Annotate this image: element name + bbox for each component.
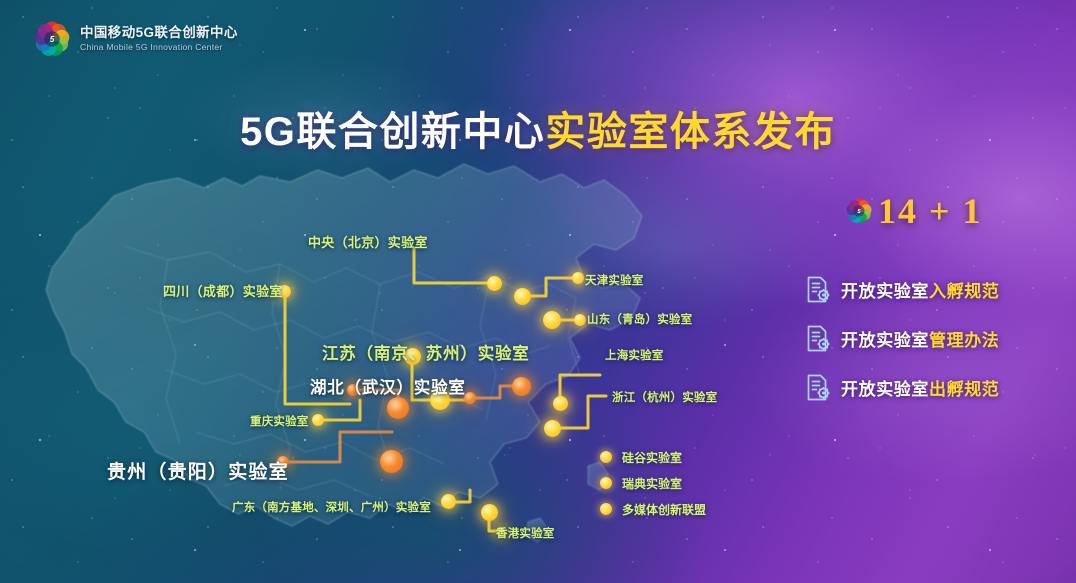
map-label-8[interactable]: 重庆实验室 bbox=[250, 413, 309, 429]
marker-hebei[interactable] bbox=[514, 288, 531, 305]
document-item-2[interactable]: 开放实验室出孵规范 bbox=[806, 374, 1056, 401]
legend-item-2[interactable]: 多媒体创新联盟 bbox=[600, 496, 706, 522]
marker-shandong[interactable] bbox=[543, 311, 561, 329]
map-label-7[interactable]: 湖北（武汉）实验室 bbox=[310, 374, 466, 398]
page-title-white: 5G联合创新中心 bbox=[240, 110, 545, 154]
document-item-label: 开放实验室出孵规范 bbox=[841, 375, 999, 400]
brand-name-cn: 中国移动5G联合创新中心 bbox=[80, 26, 238, 40]
yellow-dot-icon bbox=[600, 503, 612, 515]
slide-canvas: 中央（北京）实验室四川（成都）实验室天津实验室山东（青岛）实验室上海实验室浙江（… bbox=[0, 0, 1076, 583]
document-item-prefix: 开放实验室 bbox=[841, 331, 929, 350]
yellow-dot-icon bbox=[600, 451, 612, 463]
map-label-1[interactable]: 四川（成都）实验室 bbox=[163, 281, 283, 300]
document-item-label: 开放实验室管理办法 bbox=[841, 326, 999, 351]
document-item-highlight: 出孵规范 bbox=[929, 380, 999, 399]
map-label-5[interactable]: 浙江（杭州）实验室 bbox=[612, 389, 717, 405]
legend-item-label: 硅谷实验室 bbox=[622, 449, 682, 466]
page-title: 5G联合创新中心实验室体系发布 bbox=[0, 99, 1076, 157]
marker-guangdong[interactable] bbox=[441, 494, 456, 509]
map-label-2[interactable]: 天津实验室 bbox=[585, 272, 644, 288]
legend-item-label: 多媒体创新联盟 bbox=[622, 501, 706, 518]
map-label-3[interactable]: 山东（青岛）实验室 bbox=[587, 311, 692, 327]
marker-guiyang[interactable] bbox=[380, 450, 403, 473]
map-label-6[interactable]: 江苏（南京、苏州）实验室 bbox=[322, 340, 530, 364]
map-label-4[interactable]: 上海实验室 bbox=[605, 347, 664, 363]
marker-beijing[interactable] bbox=[487, 276, 502, 291]
map-label-10[interactable]: 广东（南方基地、深圳、广州）实验室 bbox=[232, 499, 431, 515]
svg-text:5: 5 bbox=[50, 35, 55, 44]
marker-shanghai[interactable] bbox=[553, 396, 568, 411]
brand-logo-text: 中国移动5G联合创新中心 China Mobile 5G Innovation … bbox=[80, 26, 238, 51]
map-label-9[interactable]: 贵州（贵阳）实验室 bbox=[107, 457, 289, 484]
legend-item-0[interactable]: 硅谷实验室 bbox=[600, 444, 706, 470]
marker-tianjin[interactable] bbox=[572, 272, 584, 284]
marker-east-main[interactable] bbox=[512, 377, 531, 396]
yellow-dot-icon bbox=[600, 477, 612, 489]
document-item-highlight: 管理办法 bbox=[929, 331, 999, 350]
china-mobile-5g-flower-logo-icon: 5 bbox=[846, 198, 872, 224]
document-item-prefix: 开放实验室 bbox=[841, 380, 929, 399]
brand-name-en: China Mobile 5G Innovation Center bbox=[80, 43, 238, 52]
right-panel: 5 14 + 1 开放实验室入孵规范 开放实验室管理办法 开放实验室出孵规范 bbox=[806, 190, 1056, 423]
legend-item-label: 瑞典实验室 bbox=[622, 475, 682, 492]
document-item-highlight: 入孵规范 bbox=[929, 282, 999, 301]
document-item-1[interactable]: 开放实验室管理办法 bbox=[806, 325, 1056, 352]
document-gear-icon bbox=[806, 374, 830, 401]
document-gear-icon bbox=[806, 325, 830, 352]
lab-count-value: 14 + 1 bbox=[878, 190, 983, 232]
document-item-0[interactable]: 开放实验室入孵规范 bbox=[806, 276, 1056, 303]
legend-item-1[interactable]: 瑞典实验室 bbox=[600, 470, 706, 496]
marker-qingdao[interactable] bbox=[574, 314, 586, 326]
marker-zhejiang[interactable] bbox=[544, 420, 561, 437]
page-title-yellow: 实验室体系发布 bbox=[545, 110, 836, 154]
marker-chongqing[interactable] bbox=[312, 414, 324, 426]
lab-count-row: 5 14 + 1 bbox=[806, 190, 1056, 232]
brand-logo-bar[interactable]: 5 中国移动5G联合创新中心 China Mobile 5G Innovatio… bbox=[34, 21, 238, 57]
document-gear-icon bbox=[806, 276, 830, 303]
overseas-legend: 硅谷实验室瑞典实验室多媒体创新联盟 bbox=[600, 444, 706, 522]
map-label-11[interactable]: 香港实验室 bbox=[496, 525, 555, 541]
marker-shenzhen[interactable] bbox=[481, 504, 498, 521]
china-mobile-5g-flower-logo-icon: 5 bbox=[34, 21, 70, 57]
document-list: 开放实验室入孵规范 开放实验室管理办法 开放实验室出孵规范 bbox=[806, 276, 1056, 401]
document-item-label: 开放实验室入孵规范 bbox=[841, 277, 999, 302]
map-label-0[interactable]: 中央（北京）实验室 bbox=[308, 232, 428, 251]
marker-hubei-main[interactable] bbox=[387, 397, 409, 419]
document-item-prefix: 开放实验室 bbox=[841, 282, 929, 301]
